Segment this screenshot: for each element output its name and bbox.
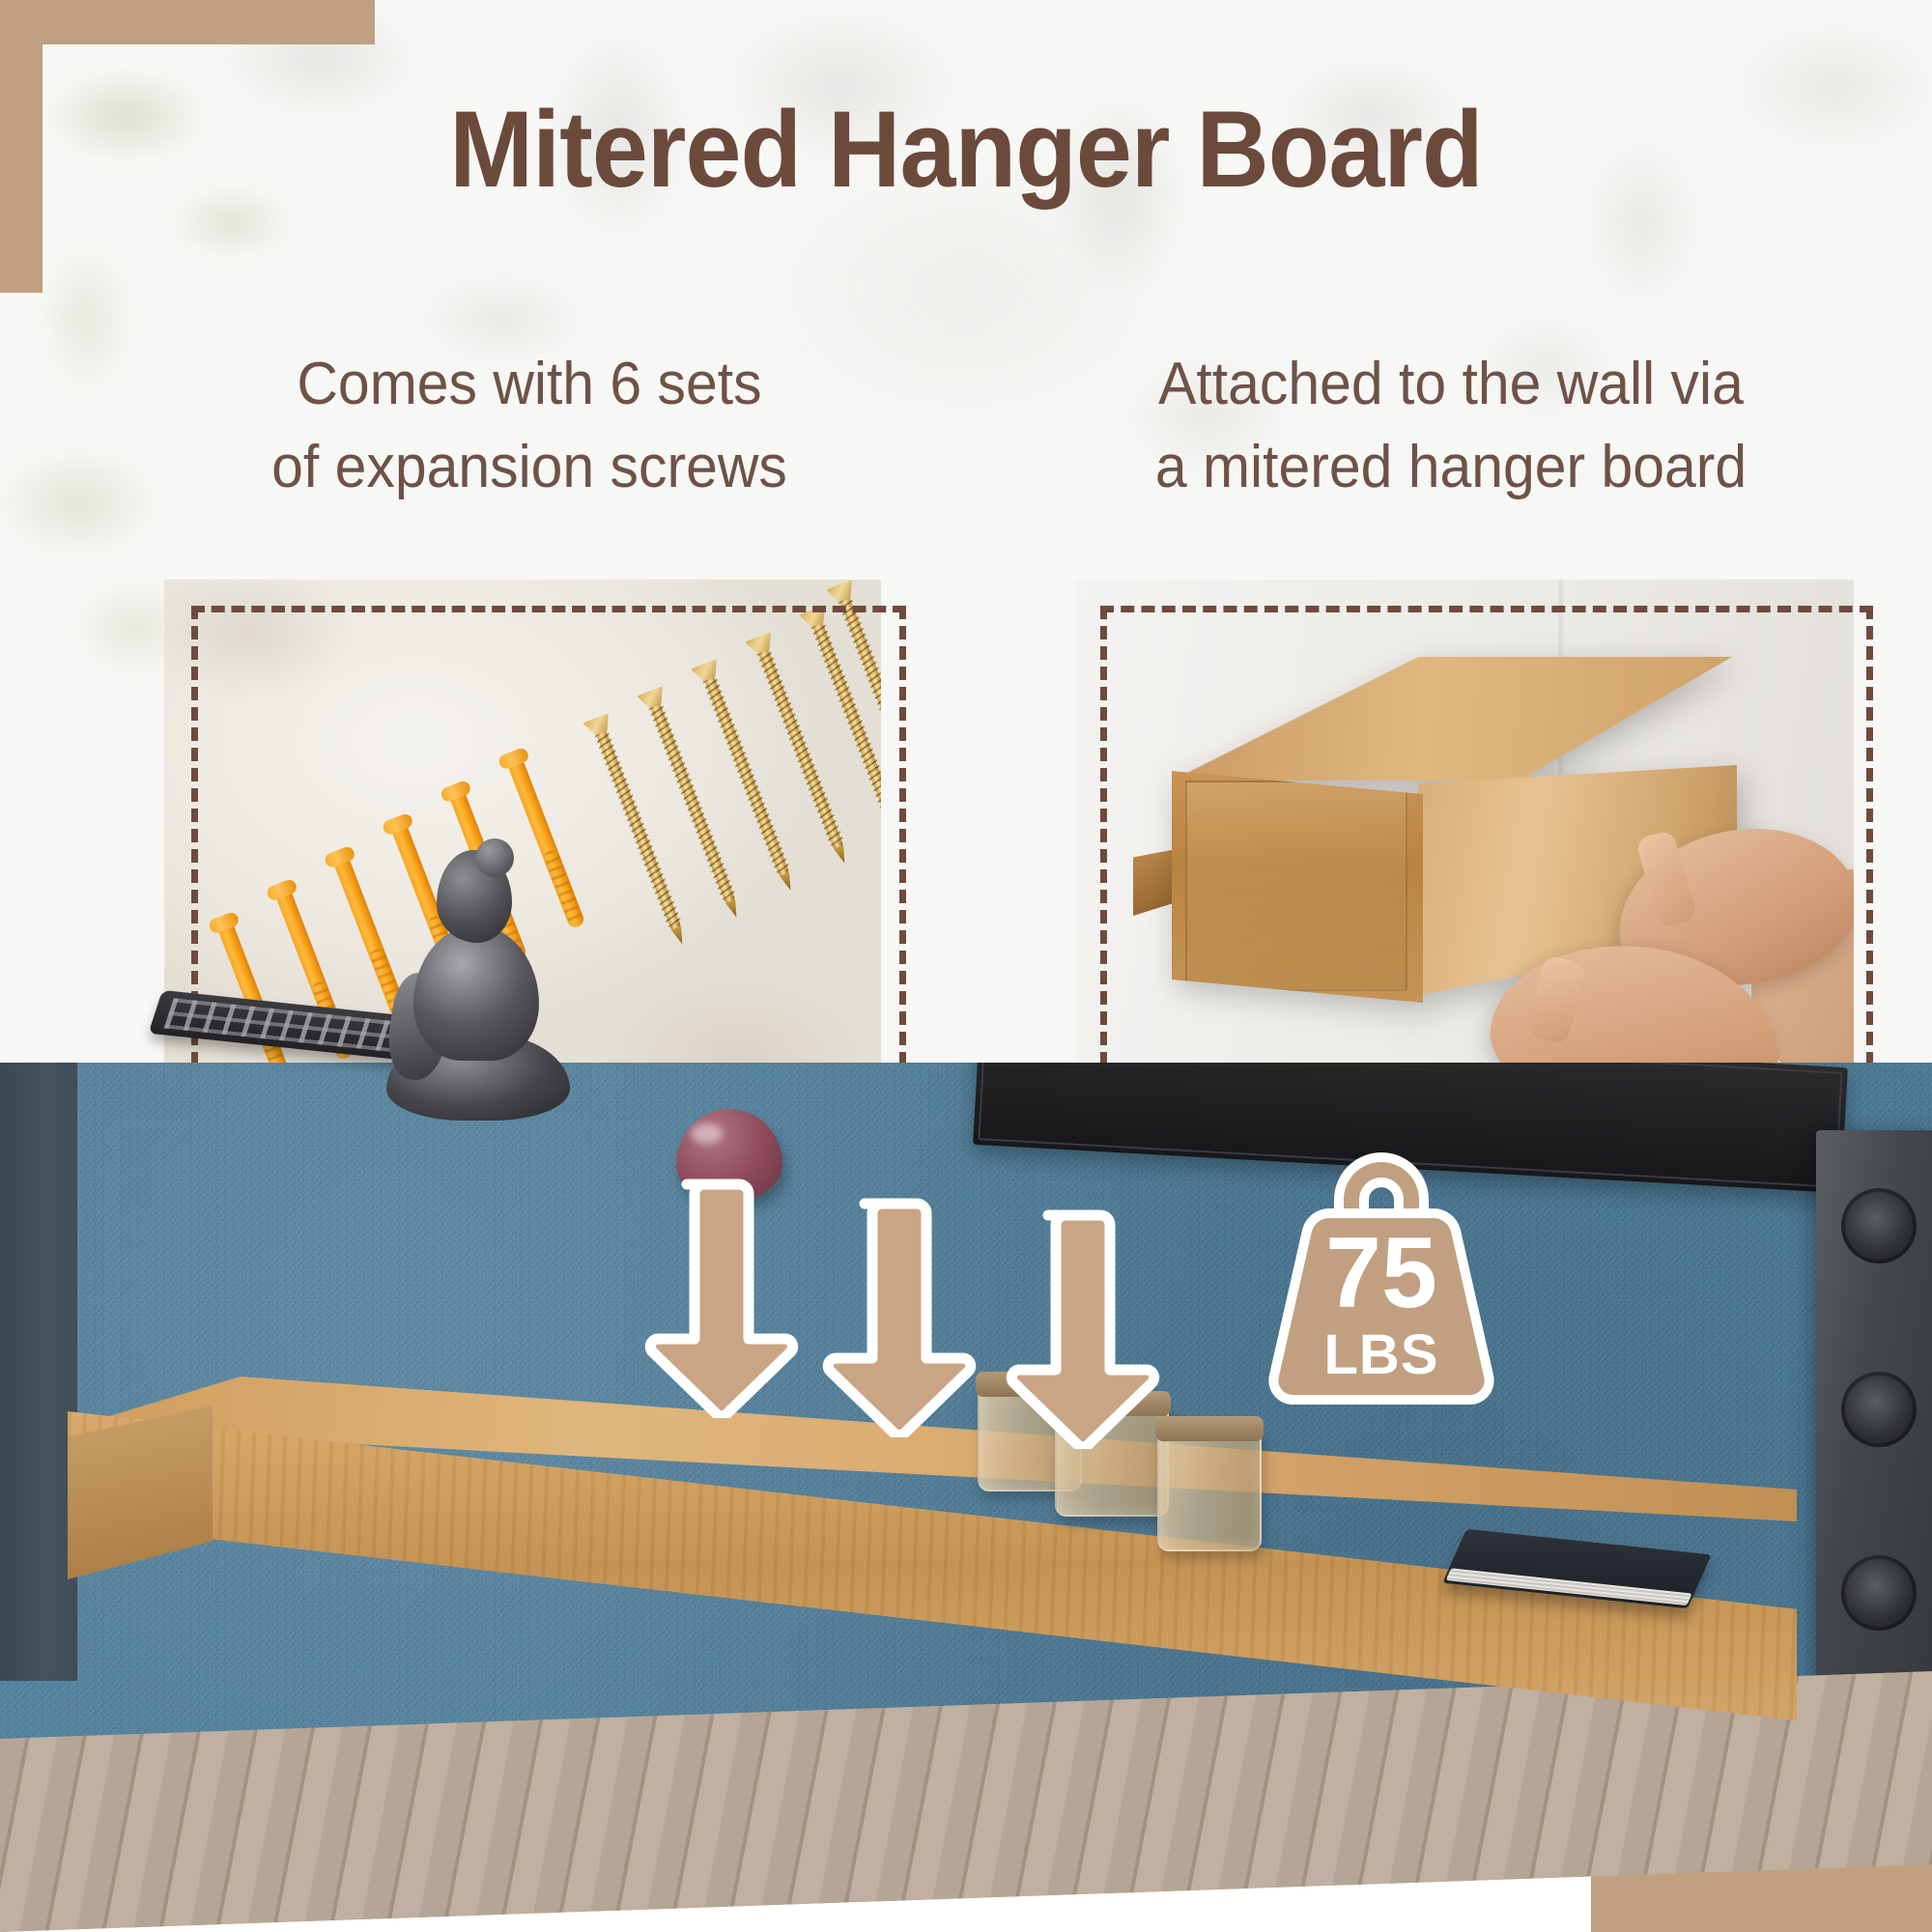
meditating-figure-statue [386, 850, 570, 1121]
speaker-driver [1841, 1555, 1917, 1631]
left-dark-panel [0, 1063, 77, 1681]
beam-end-face [1172, 771, 1423, 1003]
feature-caption-hanger-board: Attached to the wall via a mitered hange… [1047, 343, 1855, 508]
weight-unit: LBS [1236, 1327, 1526, 1383]
load-arrow-3 [987, 1207, 1161, 1449]
statue-torso [413, 925, 539, 1061]
feature-caption-screws: Comes with 6 sets of expansion screws [181, 343, 878, 508]
glass-candle-jar-3 [1157, 1428, 1262, 1551]
wall-mount-photo [1075, 580, 1854, 1121]
load-arrow-2 [804, 1196, 978, 1437]
weight-value: 75 [1236, 1223, 1526, 1323]
infographic-page: Mitered Hanger Board Comes with 6 sets o… [0, 0, 1932, 1932]
living-room-shelf-scene [0, 1063, 1932, 1932]
speaker-driver [1841, 1372, 1917, 1447]
corner-accent-top-left-horizontal [0, 0, 375, 44]
speaker-driver [1841, 1188, 1917, 1264]
statue-hair-knot [475, 838, 514, 877]
weight-capacity-badge: 75 LBS [1236, 1148, 1526, 1428]
page-title: Mitered Hanger Board [68, 93, 1864, 207]
corner-accent-top-left-vertical [0, 0, 43, 293]
tower-speaker [1816, 1130, 1932, 1729]
load-arrow-1 [626, 1177, 800, 1418]
beam-top-face [1172, 657, 1732, 781]
